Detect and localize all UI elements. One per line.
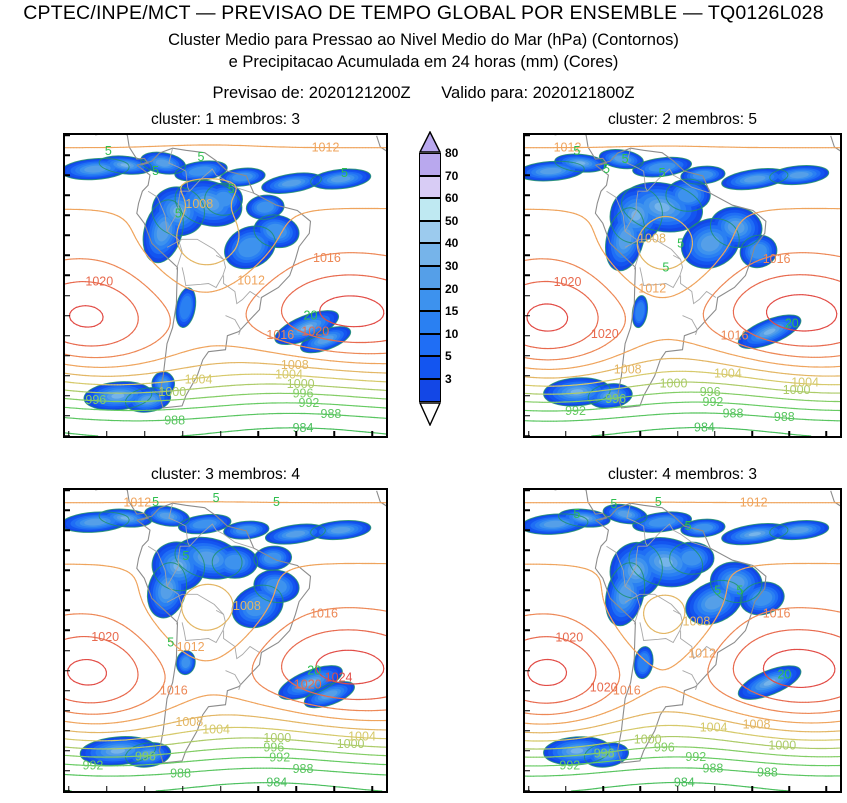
y-tick-mark: [525, 154, 530, 156]
y-tick-mark: [525, 590, 530, 592]
x-tick-mark: [602, 786, 604, 791]
mslp-contour-label: 1008: [683, 614, 711, 628]
colorbar-segment: [419, 221, 441, 244]
coastline-path: [831, 136, 840, 332]
page-title: CPTEC/INPE/MCT — PREVISAO DE TEMPO GLOBA…: [0, 2, 847, 25]
mslp-contour-label: 996: [605, 392, 626, 406]
coastline-path: [377, 491, 386, 687]
x-tick-mark: [788, 786, 790, 791]
x-tick-mark: [565, 431, 567, 436]
x-tick-mark: [106, 431, 108, 436]
y-tick-mark: [525, 489, 530, 491]
x-tick-mark: [528, 431, 530, 436]
x-tick-mark: [182, 431, 184, 436]
y-tick-mark: [65, 650, 70, 652]
y-tick-mark: [65, 710, 70, 712]
valid-for-label: Valido para: 2020121800Z: [441, 84, 634, 103]
colorbar-segment: [419, 311, 441, 334]
mslp-contour-label: 1004: [202, 723, 230, 737]
mslp-contour-label: 1016: [763, 252, 791, 266]
precip-contour-label: 5: [105, 144, 112, 158]
mslp-contour-label: 988: [321, 407, 342, 421]
mslp-contour-label: 984: [266, 776, 287, 790]
map-canvas: 9849889889929929969961000100010041008100…: [525, 490, 840, 791]
coastline-path: [640, 610, 683, 642]
mslp-contour-label: 984: [694, 421, 715, 435]
y-tick-mark: [525, 215, 530, 217]
colorbar-segment: [419, 198, 441, 221]
y-tick-mark: [65, 335, 70, 337]
precip-contour-label: 5: [198, 150, 205, 164]
colorbar-segment: [419, 334, 441, 357]
colorbar-label: 70: [445, 169, 458, 183]
mslp-contour-label: 1020: [85, 275, 113, 289]
y-tick-mark: [525, 315, 530, 317]
colorbar-label: 10: [445, 327, 458, 341]
colorbar-label: 5: [445, 349, 452, 363]
mslp-contour-label: 1012: [123, 496, 151, 510]
mslp-contour-label: 1000: [158, 385, 186, 399]
mslp-contour-label: 1016: [160, 684, 188, 698]
mslp-contour-label: 1016: [763, 606, 791, 620]
colorbar-label: 3: [445, 372, 452, 386]
mslp-contour-label: 1008: [175, 715, 203, 729]
map-canvas: 9849889889929929969961000100010041004100…: [65, 490, 386, 791]
x-tick-mark: [826, 786, 828, 791]
colorbar-label: 15: [445, 304, 458, 318]
precip-contour-fill: [678, 188, 698, 203]
mslp-contour-label: 1004: [791, 376, 819, 390]
y-tick-mark: [65, 670, 70, 672]
colorbar-segment: [419, 243, 441, 266]
coastline-path: [224, 631, 260, 659]
mslp-contour-label: 1024: [325, 671, 353, 685]
coastline-path: [377, 136, 386, 332]
precip-contour-label: 5: [655, 495, 662, 509]
coastline-path: [831, 491, 840, 687]
mslp-contour-label: 1012: [638, 282, 666, 296]
y-tick-mark: [525, 235, 530, 237]
mslp-contour-label: 1020: [554, 275, 582, 289]
x-tick-mark: [220, 786, 222, 791]
mslp-contour-label: 988: [774, 410, 795, 424]
y-tick-mark: [65, 489, 70, 491]
y-tick-mark: [65, 275, 70, 277]
mslp-contour-label: 992: [565, 404, 586, 418]
y-tick-mark: [65, 770, 70, 772]
mslp-contour-label: 1012: [740, 496, 768, 510]
panel-title-cluster-2: cluster: 2 membros: 5: [523, 111, 842, 129]
map-plot-cluster-3[interactable]: 9849889889929929969961000100010041004100…: [63, 488, 388, 793]
colorbar-segment: [419, 266, 441, 289]
precip-contour-label: 5: [573, 144, 580, 158]
x-tick-mark: [334, 431, 336, 436]
panel-title-cluster-4: cluster: 4 membros: 3: [523, 466, 842, 484]
panel-cluster-1[interactable]: cluster: 1 membros: 3 984988988992996996…: [63, 133, 388, 438]
x-tick-mark: [751, 431, 753, 436]
mslp-contour-label: 1008: [638, 232, 666, 246]
mslp-contour-label: 1020: [294, 677, 322, 691]
panel-cluster-3[interactable]: cluster: 3 membros: 4 984988988992992996…: [63, 488, 388, 793]
mslp-contour-label: 1016: [266, 328, 294, 342]
mslp-contour-label: 1016: [721, 329, 749, 343]
y-tick-mark: [525, 335, 530, 337]
x-tick-mark: [68, 786, 70, 791]
mslp-contour-label: 1016: [310, 606, 338, 620]
forecast-from-label: Previsao de: 2020121200Z: [212, 84, 410, 103]
mslp-contour-label: 1020: [591, 327, 619, 341]
x-tick-mark: [371, 431, 373, 436]
y-tick-mark: [65, 549, 70, 551]
x-tick-mark: [371, 786, 373, 791]
x-tick-mark: [714, 431, 716, 436]
mslp-contour-label: 1004: [714, 366, 742, 380]
precip-contour-label: 5: [167, 636, 174, 650]
x-tick-mark: [296, 431, 298, 436]
mslp-contour-label: 1020: [91, 630, 119, 644]
mslp-contour-label: 1020: [555, 630, 583, 644]
precip-contour-label: 5: [714, 583, 721, 597]
panel-cluster-4[interactable]: cluster: 4 membros: 3 984988988992992996…: [523, 488, 842, 793]
y-tick-mark: [65, 215, 70, 217]
x-tick-mark: [751, 786, 753, 791]
subtitle-contours: Cluster Medio para Pressao ao Nivel Medi…: [0, 31, 847, 50]
y-tick-mark: [525, 529, 530, 531]
precip-contour-label: 5: [659, 166, 666, 180]
precip-contour-label: 5: [662, 261, 669, 275]
y-tick-mark: [65, 630, 70, 632]
y-tick-mark: [525, 295, 530, 297]
colorbar-under-arrow: [419, 402, 441, 426]
map-plot-cluster-2[interactable]: 9849889889929929969961000100010041004100…: [523, 133, 842, 438]
mslp-contour-label: 1020: [301, 325, 329, 339]
x-tick-mark: [826, 431, 828, 436]
precip-contour-label: 5: [685, 519, 692, 533]
y-tick-mark: [525, 770, 530, 772]
y-tick-mark: [525, 670, 530, 672]
mslp-contour-label: 1000: [660, 376, 688, 390]
y-tick-mark: [525, 194, 530, 196]
precip-contour-label: 5: [175, 206, 182, 220]
colorbar-segment: [419, 379, 441, 402]
x-tick-mark: [714, 786, 716, 791]
y-tick-mark: [65, 255, 70, 257]
precip-contour-label: 20: [777, 668, 791, 682]
y-tick-mark: [525, 690, 530, 692]
y-tick-mark: [65, 690, 70, 692]
x-tick-mark: [602, 431, 604, 436]
x-tick-mark: [640, 786, 642, 791]
y-tick-mark: [65, 355, 70, 357]
y-tick-mark: [525, 750, 530, 752]
colorbar-segment: [419, 153, 441, 176]
y-tick-mark: [65, 570, 70, 572]
mslp-contour-label: 988: [723, 407, 744, 421]
mslp-contour-label: 1016: [313, 251, 341, 265]
mslp-contour-label: 992: [685, 750, 706, 764]
mslp-contour-label: 1008: [281, 358, 309, 372]
mslp-contour-label: 1008: [185, 197, 213, 211]
coastline-path: [182, 255, 225, 287]
colorbar-label: 30: [445, 259, 458, 273]
y-tick-mark: [65, 750, 70, 752]
mslp-contour-label: 1012: [312, 141, 340, 155]
mslp-contour-label: 1000: [263, 731, 291, 745]
precip-contour-label: 5: [573, 507, 580, 521]
precip-contour-label: 5: [341, 166, 348, 180]
colorbar-segment: [419, 289, 441, 312]
y-tick-mark: [525, 610, 530, 612]
x-tick-mark: [677, 431, 679, 436]
precip-contour-label: 5: [273, 495, 280, 509]
precip-contour-label: 5: [736, 583, 743, 597]
y-tick-mark: [65, 610, 70, 612]
y-tick-mark: [525, 710, 530, 712]
precip-contour-label: 20: [785, 317, 799, 331]
y-tick-mark: [525, 134, 530, 136]
mslp-contour-label: 1008: [233, 599, 261, 613]
subtitle-colors: e Precipitacao Acumulada em 24 horas (mm…: [0, 53, 847, 72]
mslp-contour-label: 992: [559, 758, 580, 772]
x-tick-mark: [640, 431, 642, 436]
colorbar-label: 60: [445, 191, 458, 205]
map-canvas: 9849889889929929969961000100010041004100…: [525, 135, 840, 436]
precip-contour-label: 5: [228, 182, 235, 196]
mslp-contour-label: 992: [83, 758, 104, 772]
y-tick-mark: [525, 570, 530, 572]
precip-contour-label: 5: [603, 162, 610, 176]
y-tick-mark: [525, 375, 530, 377]
map-plot-cluster-4[interactable]: 9849889889929929969961000100010041008100…: [523, 488, 842, 793]
mslp-contour-label: 996: [85, 393, 106, 407]
precip-contour-label: 20: [307, 664, 321, 678]
y-tick-mark: [65, 529, 70, 531]
colorbar-label: 50: [445, 214, 458, 228]
y-tick-mark: [525, 730, 530, 732]
mslp-contour-label: 1012: [177, 640, 205, 654]
panel-cluster-2[interactable]: cluster: 2 membros: 5 984988988992992996…: [523, 133, 842, 438]
x-tick-mark: [528, 786, 530, 791]
mslp-contour-label: 996: [594, 747, 615, 761]
y-tick-mark: [525, 255, 530, 257]
y-tick-mark: [525, 650, 530, 652]
x-tick-mark: [144, 431, 146, 436]
y-tick-mark: [525, 549, 530, 551]
y-tick-mark: [65, 295, 70, 297]
colorbar-label: 80: [445, 146, 458, 160]
mslp-contour-label: 988: [164, 413, 185, 427]
mslp-contour-label: 1008: [614, 362, 642, 376]
mslp-contour-label: 1020: [590, 681, 618, 695]
y-tick-mark: [525, 415, 530, 417]
y-tick-mark: [65, 415, 70, 417]
precip-contour-label: 5: [677, 236, 684, 250]
x-tick-mark: [258, 431, 260, 436]
precip-contour-label: 5: [152, 164, 159, 178]
mslp-contour-label: 996: [700, 385, 721, 399]
x-tick-mark: [68, 431, 70, 436]
mslp-contour-label: 988: [170, 767, 191, 781]
precip-contour-label: 5: [182, 549, 189, 563]
colorbar-segment: [419, 356, 441, 379]
y-tick-mark: [525, 630, 530, 632]
y-tick-mark: [65, 194, 70, 196]
y-tick-mark: [65, 235, 70, 237]
mslp-contour-label: 1004: [185, 373, 213, 387]
forecast-run-line: Previsao de: 2020121200Z Valido para: 20…: [0, 84, 847, 103]
y-tick-mark: [525, 395, 530, 397]
x-tick-mark: [220, 431, 222, 436]
y-tick-mark: [65, 395, 70, 397]
precip-contour-label: 5: [213, 491, 220, 505]
mslp-contour-label: 1004: [348, 730, 376, 744]
colorbar-segment: [419, 176, 441, 199]
map-canvas: 9849889889929969961000100010041004100810…: [65, 135, 386, 436]
y-tick-mark: [525, 275, 530, 277]
x-tick-mark: [144, 786, 146, 791]
x-tick-mark: [677, 786, 679, 791]
mslp-contour-label: 988: [293, 762, 314, 776]
y-tick-mark: [65, 154, 70, 156]
panel-title-cluster-1: cluster: 1 membros: 3: [63, 111, 388, 129]
colorbar-over-arrow: [419, 131, 441, 153]
precip-contour-label: 5: [152, 495, 159, 509]
x-tick-mark: [296, 786, 298, 791]
y-tick-mark: [65, 134, 70, 136]
precip-contour-label: 5: [610, 497, 617, 511]
colorbar-label: 20: [445, 282, 458, 296]
y-tick-mark: [65, 590, 70, 592]
mslp-contour-label: 1000: [768, 739, 796, 753]
x-tick-mark: [182, 786, 184, 791]
mslp-contour-label: 996: [135, 749, 156, 763]
y-tick-mark: [525, 174, 530, 176]
mslp-contour-label: 1012: [237, 274, 265, 288]
mslp-contour-label: 1004: [700, 720, 728, 734]
x-tick-mark: [106, 786, 108, 791]
precip-contour-fill: [682, 551, 702, 566]
precip-contour-label: 20: [304, 309, 318, 323]
x-tick-mark: [334, 786, 336, 791]
precip-contour-label: 5: [622, 152, 629, 166]
colorbar-label: 40: [445, 236, 458, 250]
x-tick-mark: [565, 786, 567, 791]
y-tick-mark: [65, 509, 70, 511]
y-tick-mark: [65, 315, 70, 317]
precipitation-colorbar: 35101520304050607080: [419, 131, 489, 443]
x-tick-mark: [258, 786, 260, 791]
mslp-contour-label: 1000: [634, 732, 662, 746]
y-tick-mark: [65, 375, 70, 377]
map-plot-cluster-1[interactable]: 9849889889929969961000100010041004100810…: [63, 133, 388, 438]
panel-title-cluster-3: cluster: 3 membros: 4: [63, 466, 388, 484]
y-tick-mark: [525, 509, 530, 511]
mslp-contour-label: 988: [757, 766, 778, 780]
y-tick-mark: [525, 355, 530, 357]
x-tick-mark: [788, 431, 790, 436]
y-tick-mark: [65, 174, 70, 176]
y-tick-mark: [65, 730, 70, 732]
